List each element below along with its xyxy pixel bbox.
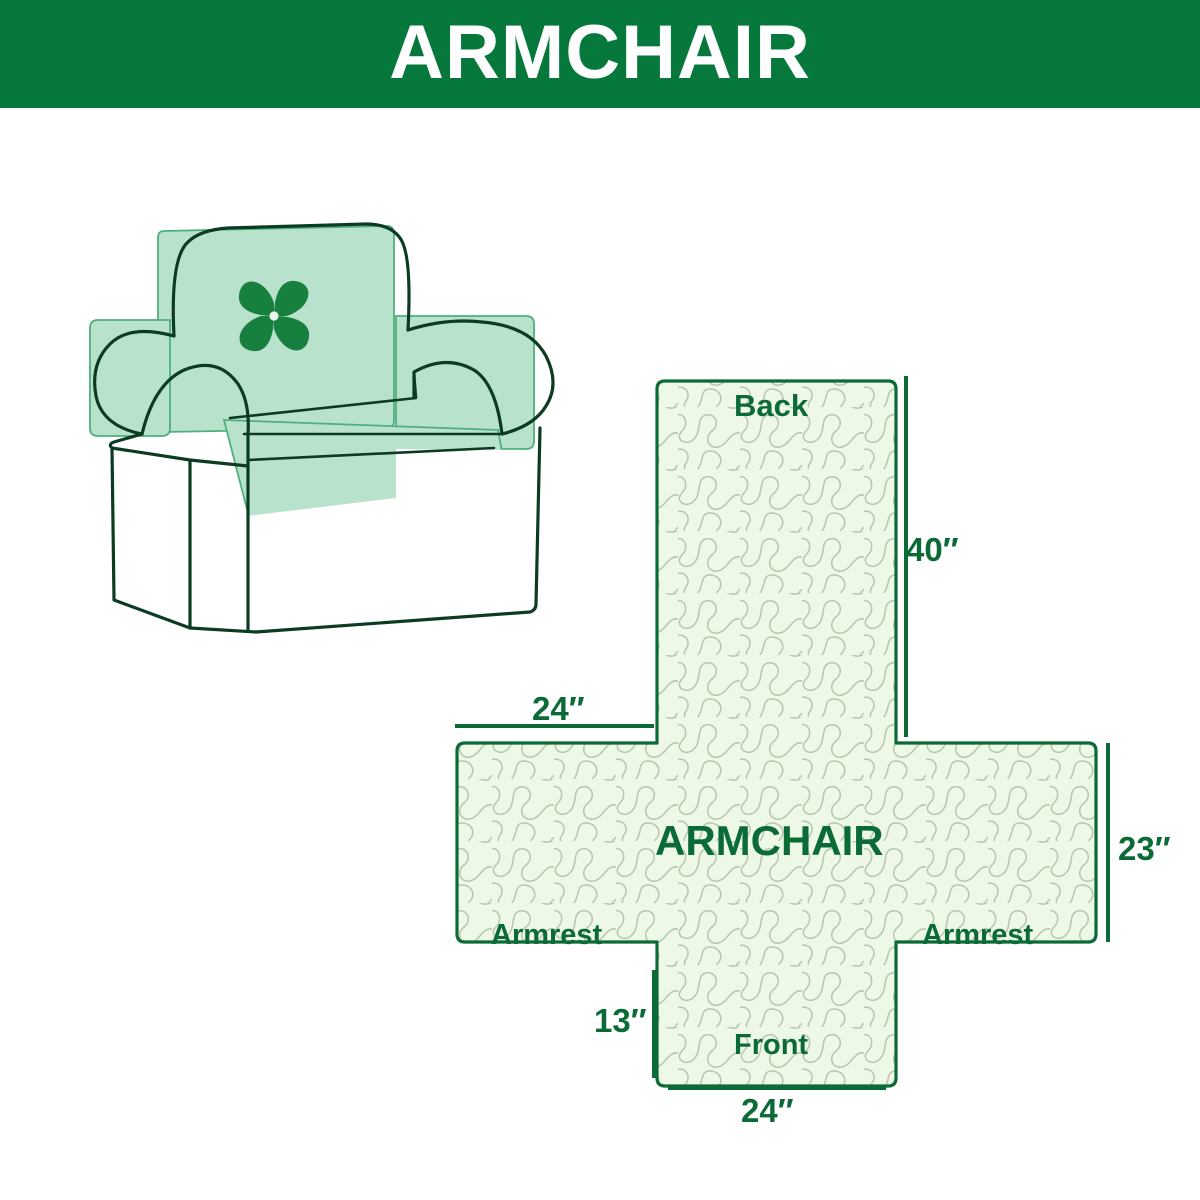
chair-left-arm-cover-fill xyxy=(90,320,170,436)
panel-label-back: Back xyxy=(734,390,808,421)
cover-pattern-diagram xyxy=(430,345,1190,1135)
panel-label-front: Front xyxy=(734,1031,808,1060)
dimension-label-back-width: 24″ xyxy=(532,692,585,725)
page-root: ARMCHAIR .ol { fill:none; stroke:#0b3b22… xyxy=(0,0,1200,1200)
panel-label-armrest-left: Armrest xyxy=(491,921,602,950)
cross-shape xyxy=(457,381,1096,1086)
panel-label-center: ARMCHAIR xyxy=(655,820,884,862)
dimension-label-back-height: 40″ xyxy=(906,533,959,566)
dimension-label-front-height: 13″ xyxy=(594,1004,647,1037)
page-title: ARMCHAIR xyxy=(389,15,811,91)
pinwheel-icon xyxy=(228,270,320,362)
panel-label-armrest-right: Armrest xyxy=(922,921,1033,950)
dimension-label-center-height: 23″ xyxy=(1118,832,1171,865)
dimension-label-front-width: 24″ xyxy=(741,1094,794,1127)
cross-outline xyxy=(457,381,1096,1086)
header-banner: ARMCHAIR xyxy=(0,0,1200,108)
